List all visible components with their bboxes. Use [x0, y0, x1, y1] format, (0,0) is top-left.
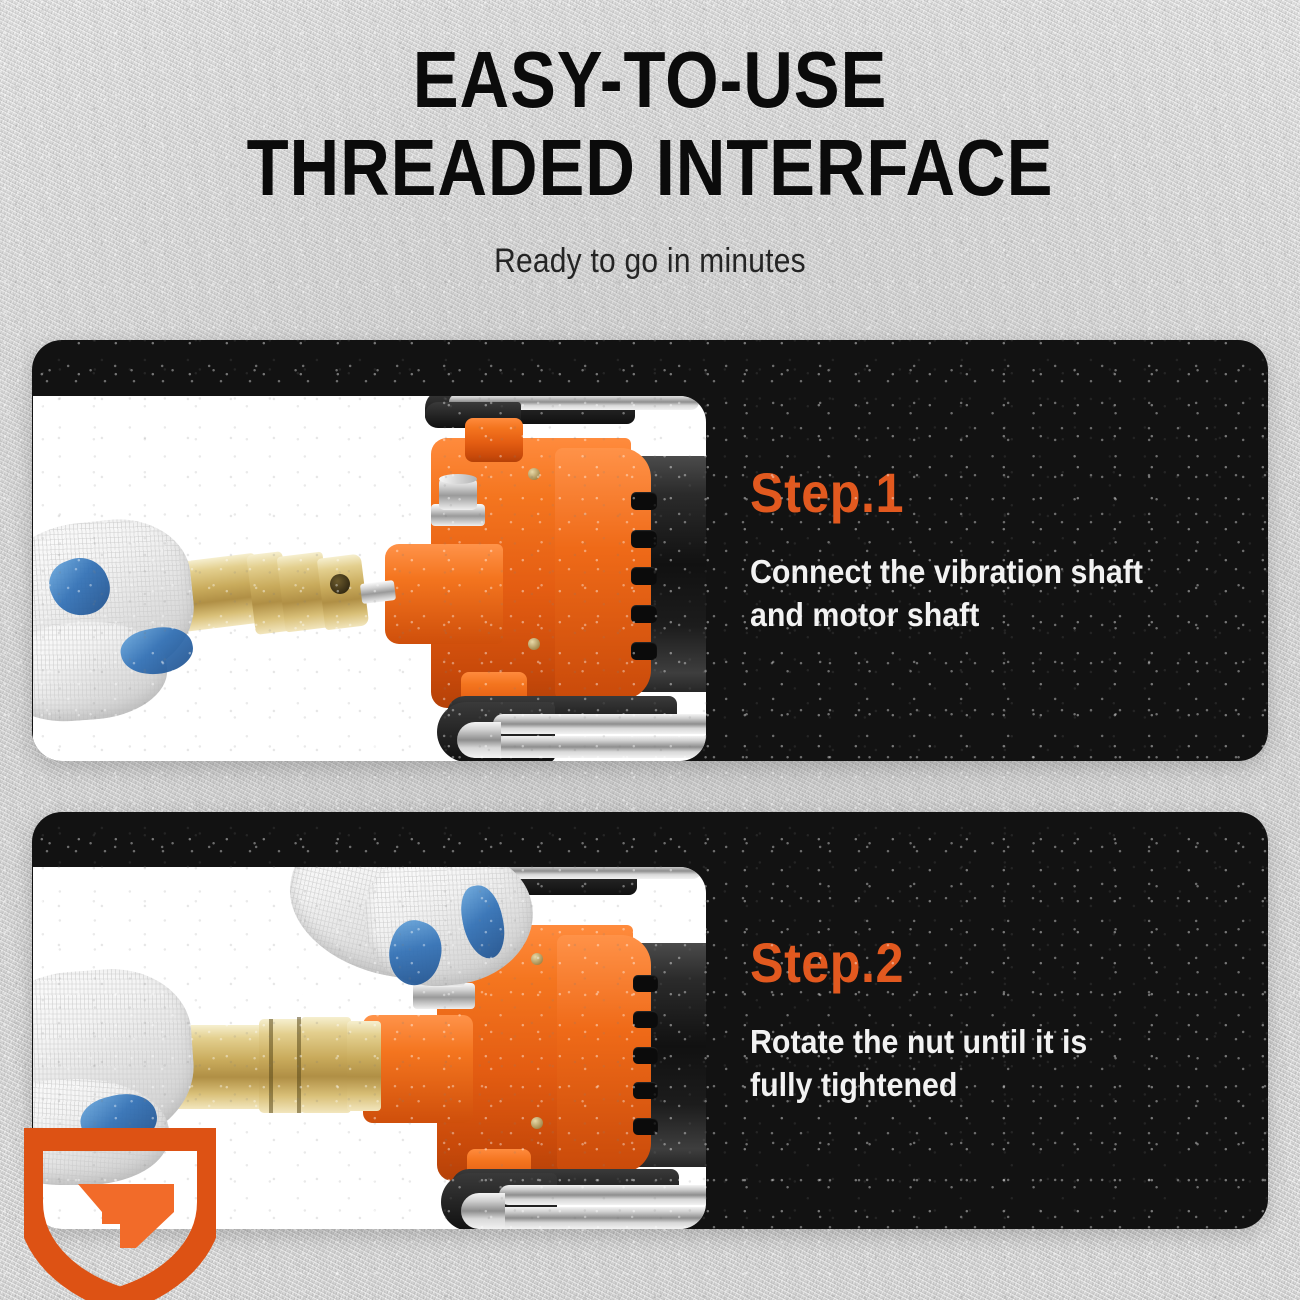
g-mark — [78, 1184, 174, 1248]
bottom-cage-tube-upper — [499, 1185, 706, 1205]
housing-screw-bottom — [531, 1117, 543, 1129]
bottom-cage-bend — [457, 722, 501, 758]
step-1-photo — [33, 396, 706, 761]
vent-slot — [631, 605, 657, 623]
shaft-seam-1 — [269, 1019, 273, 1113]
title-line-2: THREADED INTERFACE — [91, 130, 1209, 206]
bottom-cage-tube-upper — [493, 714, 706, 734]
page-subtitle: Ready to go in minutes — [78, 242, 1222, 281]
vent-slot — [631, 567, 657, 585]
vent-slot — [633, 1047, 658, 1064]
vent-slot — [631, 492, 657, 510]
step-card-1: Step.1 Connect the vibration shaft and m… — [32, 340, 1268, 761]
shaft-tip — [360, 580, 396, 604]
shield-g-logo-icon — [24, 1128, 216, 1300]
bottom-cage-tube-lower — [465, 736, 706, 758]
step-card-2: Step.2 Rotate the nut until it is fully … — [32, 812, 1268, 1229]
shaft-collar — [347, 1021, 381, 1111]
shaft-seam-2 — [297, 1017, 301, 1113]
housing-screw-bottom — [528, 638, 540, 650]
step-1-description: Connect the vibration shaft and motor sh… — [750, 551, 1182, 637]
motor-vent-slots — [631, 492, 657, 660]
step-2-kicker: Step.2 — [750, 935, 1191, 991]
title-line-1: EASY-TO-USE — [413, 35, 888, 124]
coupling-nut — [301, 1017, 351, 1113]
step-2-description: Rotate the nut until it is fully tighten… — [750, 1021, 1182, 1107]
vent-slot — [633, 1011, 658, 1028]
vent-slot — [633, 975, 658, 992]
housing-tab-top — [465, 418, 523, 462]
motor-vent-slots — [633, 975, 658, 1135]
housing-screw-top — [528, 468, 540, 480]
page-title: EASY-TO-USE THREADED INTERFACE — [91, 42, 1209, 206]
brand-logo — [24, 1128, 216, 1300]
product-illustration-step-1 — [33, 396, 706, 761]
step-2-text: Step.2 Rotate the nut until it is fully … — [706, 812, 1268, 1229]
infographic-page: EASY-TO-USE THREADED INTERFACE Ready to … — [0, 0, 1300, 1300]
bottom-cage-bend — [461, 1193, 505, 1229]
motor-snout — [385, 544, 503, 644]
vent-slot — [631, 642, 657, 660]
housing-screw-top — [531, 953, 543, 965]
vent-slot — [631, 530, 657, 548]
vent-slot — [633, 1118, 658, 1135]
coupler-stud-cap — [439, 474, 477, 484]
vent-slot — [633, 1082, 658, 1099]
step-1-text: Step.1 Connect the vibration shaft and m… — [706, 340, 1268, 761]
step-1-kicker: Step.1 — [750, 465, 1191, 521]
header: EASY-TO-USE THREADED INTERFACE Ready to … — [0, 42, 1300, 281]
